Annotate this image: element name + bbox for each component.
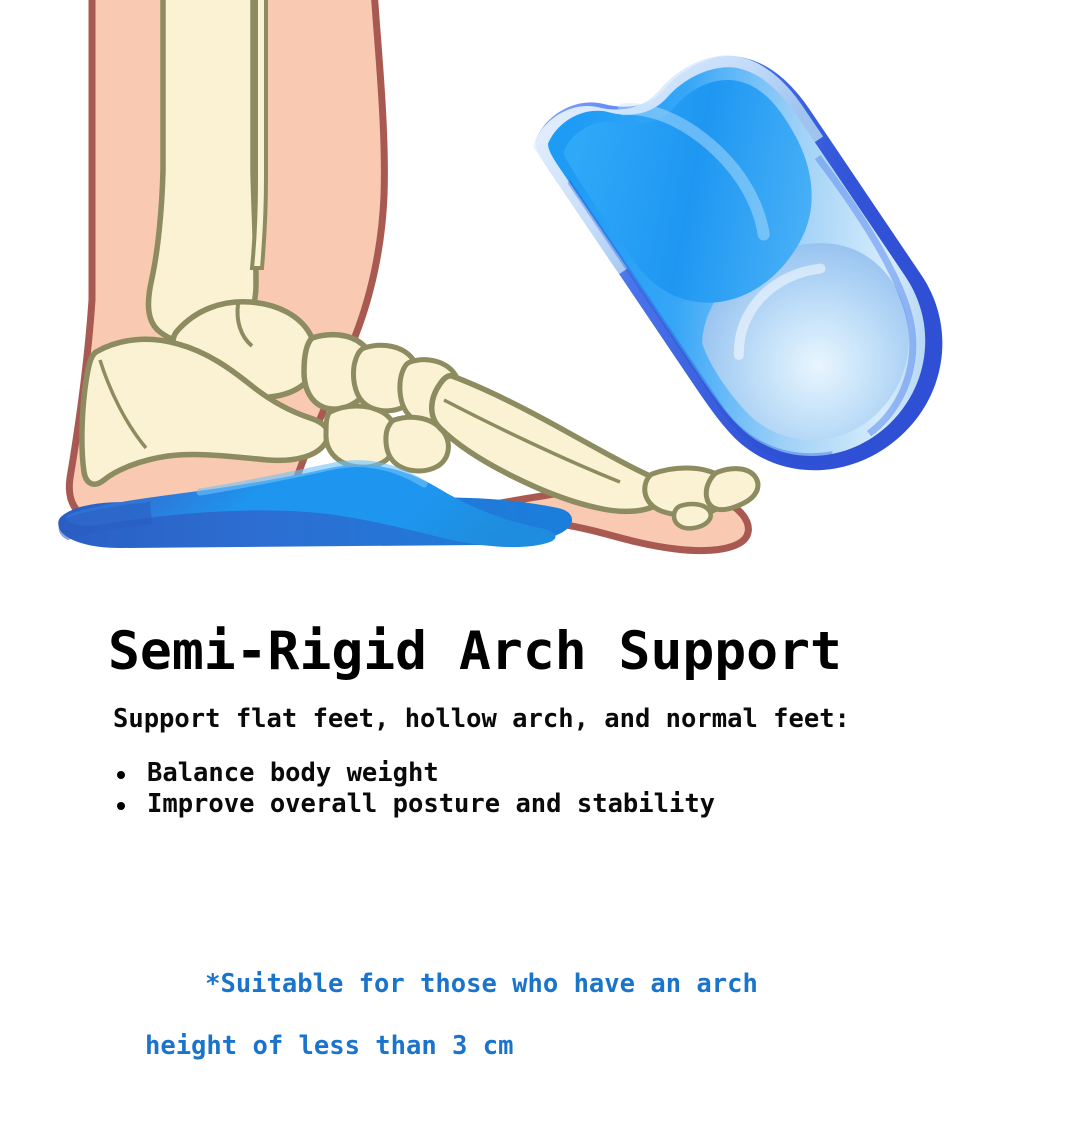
bullet-dot-icon bbox=[117, 802, 125, 810]
footnote-line-2: height of less than 3 cm bbox=[113, 1031, 758, 1062]
distal-phalanx-bone bbox=[706, 469, 758, 510]
arch-support-3d-view bbox=[525, 0, 990, 517]
footnote: *Suitable for those who have an arch hei… bbox=[113, 938, 758, 1124]
list-item: Balance body weight bbox=[113, 758, 715, 789]
fibula-bone bbox=[252, 0, 266, 268]
product-feature-poster: Semi-Rigid Arch Support Support flat fee… bbox=[0, 0, 1080, 1080]
copy-block: Semi-Rigid Arch Support Support flat fee… bbox=[0, 600, 1080, 1080]
page-title: Semi-Rigid Arch Support bbox=[108, 622, 842, 683]
first-metatarsal-bone bbox=[432, 376, 664, 512]
list-item-label: Balance body weight bbox=[147, 758, 439, 788]
lesser-toe-bone bbox=[674, 504, 711, 528]
list-item-label: Improve overall posture and stability bbox=[147, 789, 715, 819]
footnote-line-1: *Suitable for those who have an arch bbox=[205, 969, 758, 999]
list-item: Improve overall posture and stability bbox=[113, 789, 715, 820]
tibia-bone bbox=[148, 0, 256, 344]
subtitle-text: Support flat feet, hollow arch, and norm… bbox=[113, 704, 850, 735]
bullet-dot-icon bbox=[117, 771, 125, 779]
benefit-list: Balance body weight Improve overall post… bbox=[113, 758, 715, 820]
illustration-area bbox=[0, 0, 1080, 600]
